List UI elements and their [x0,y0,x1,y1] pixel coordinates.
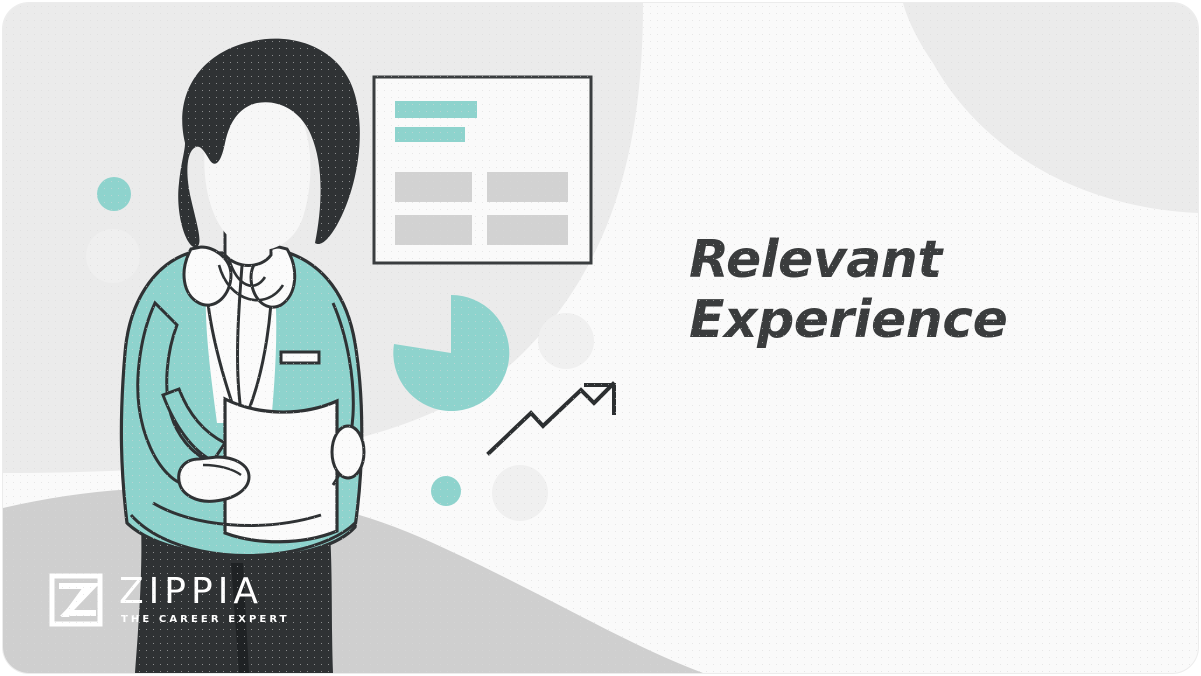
panel-accent-bar-2 [395,127,465,142]
panel-block-4 [487,215,568,245]
panel-block-3 [395,215,472,245]
page-title: Relevant Experience [689,230,1109,350]
name-badge [281,352,319,363]
zippia-logo-text: ZIPPIA THE CAREER EXPERT [119,574,290,627]
pie-chart-shape [393,295,509,411]
hand-right [332,426,364,478]
zippia-wordmark: ZIPPIA [119,574,290,610]
hand-left [179,457,249,501]
zippia-logo[interactable]: ZIPPIA THE CAREER EXPERT [49,573,290,627]
zippia-z-mark-icon [49,573,103,627]
zippia-tagline: THE CAREER EXPERT [121,613,290,627]
panel-accent-bar-1 [395,101,477,118]
panel-block-2 [487,172,568,202]
resume-preview-panel [374,77,591,263]
slide-canvas: Relevant Experience ZIPPIA THE CAREER EX… [0,0,1201,676]
panel-block-1 [395,172,472,202]
hero-card: Relevant Experience ZIPPIA THE CAREER EX… [3,3,1198,673]
growth-arrow-shape [489,384,614,453]
